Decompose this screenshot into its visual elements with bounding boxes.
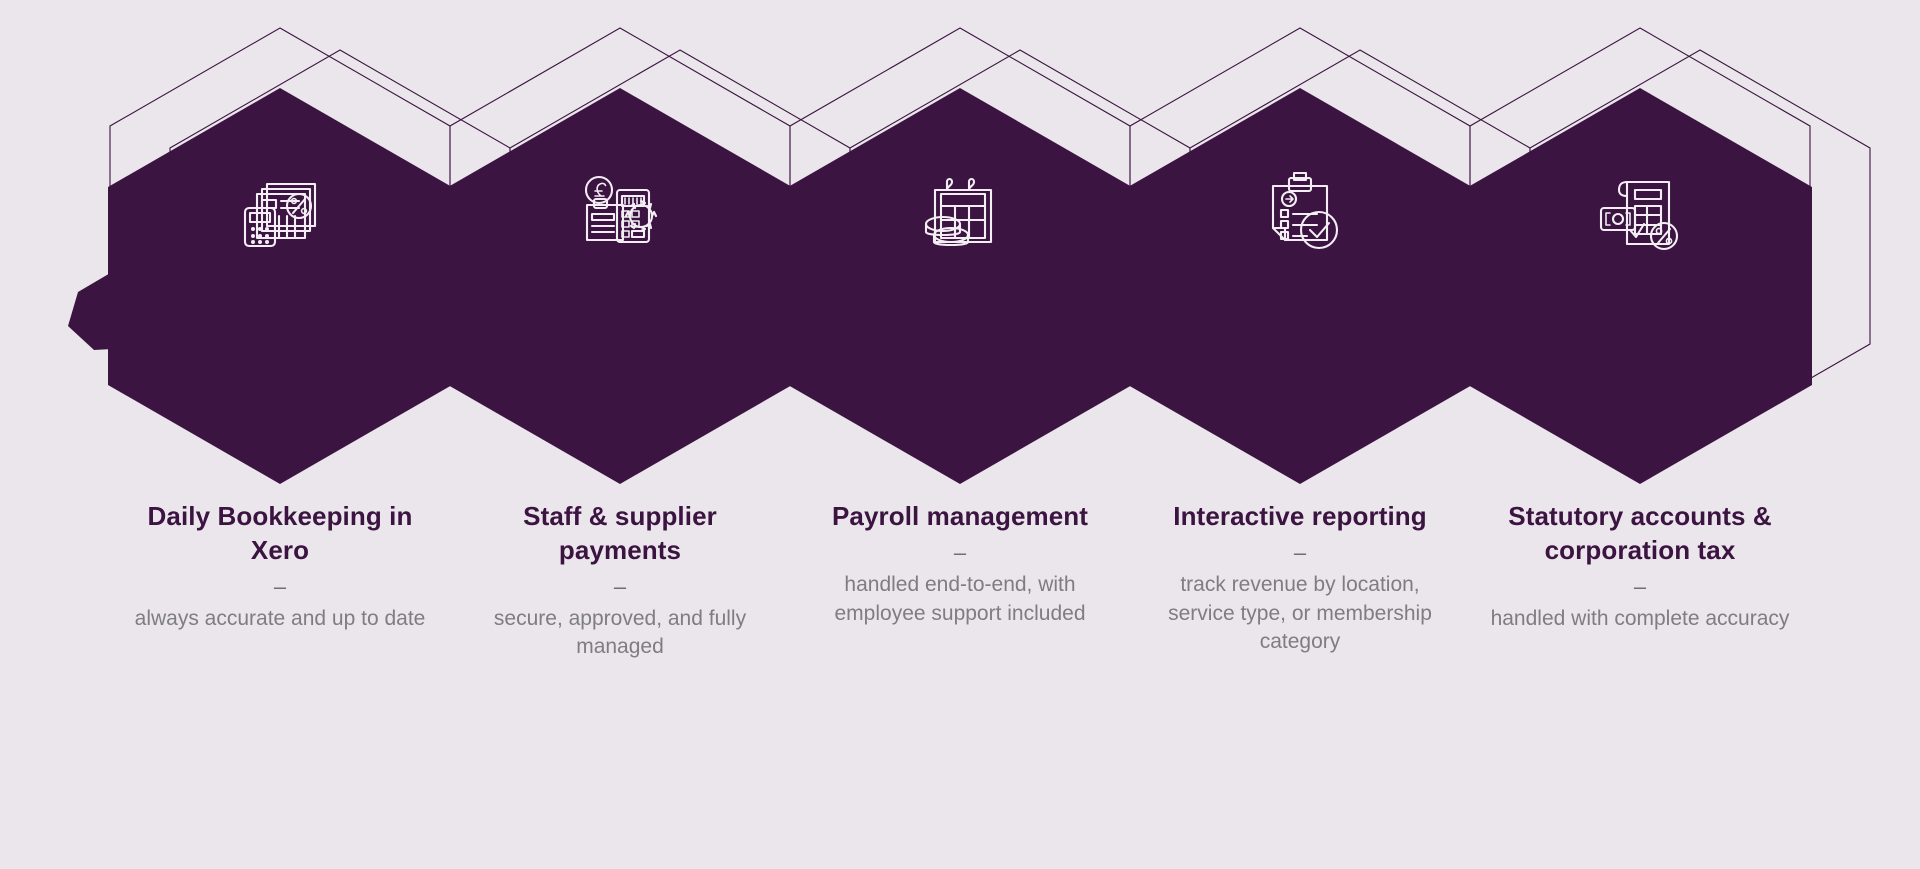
feature-card-description: secure, approved, and fully managed xyxy=(466,605,774,663)
hexagon-decoration-svg xyxy=(1410,0,1870,470)
feature-card-separator: – xyxy=(126,570,434,603)
feature-card-text: Payroll management – handled end-to-end,… xyxy=(790,500,1130,628)
feature-card-separator: – xyxy=(1146,536,1454,569)
feature-card-text: Daily Bookkeeping in Xero – always accur… xyxy=(110,500,450,633)
feature-card-description: always accurate and up to date xyxy=(126,605,434,634)
feature-card-list: Daily Bookkeeping in Xero – always accur… xyxy=(0,0,1920,869)
feature-card-separator: – xyxy=(1486,570,1794,603)
feature-card-title: Statutory accounts & corporation tax xyxy=(1486,500,1794,568)
feature-card-text: Staff & supplier payments – secure, appr… xyxy=(450,500,790,662)
solid-hexagon xyxy=(1468,88,1812,484)
feature-card-description: track revenue by location, service type,… xyxy=(1146,571,1454,657)
feature-card-description: handled end-to-end, with employee suppor… xyxy=(806,571,1114,629)
feature-card-title: Payroll management xyxy=(806,500,1114,534)
feature-card-description: handled with complete accuracy xyxy=(1486,605,1794,634)
feature-hexagon-row: Daily Bookkeeping in Xero – always accur… xyxy=(0,0,1920,869)
feature-card-title: Daily Bookkeeping in Xero xyxy=(126,500,434,568)
feature-card-title: Staff & supplier payments xyxy=(466,500,774,568)
feature-card-separator: – xyxy=(466,570,774,603)
feature-card[interactable]: Statutory accounts & corporation tax – h… xyxy=(1470,0,1810,869)
feature-card-text: Interactive reporting – track revenue by… xyxy=(1130,500,1470,657)
feature-card-text: Statutory accounts & corporation tax – h… xyxy=(1470,500,1810,633)
feature-card-separator: – xyxy=(806,536,1114,569)
feature-card-title: Interactive reporting xyxy=(1146,500,1454,534)
hexagon-artwork xyxy=(1470,0,1810,470)
